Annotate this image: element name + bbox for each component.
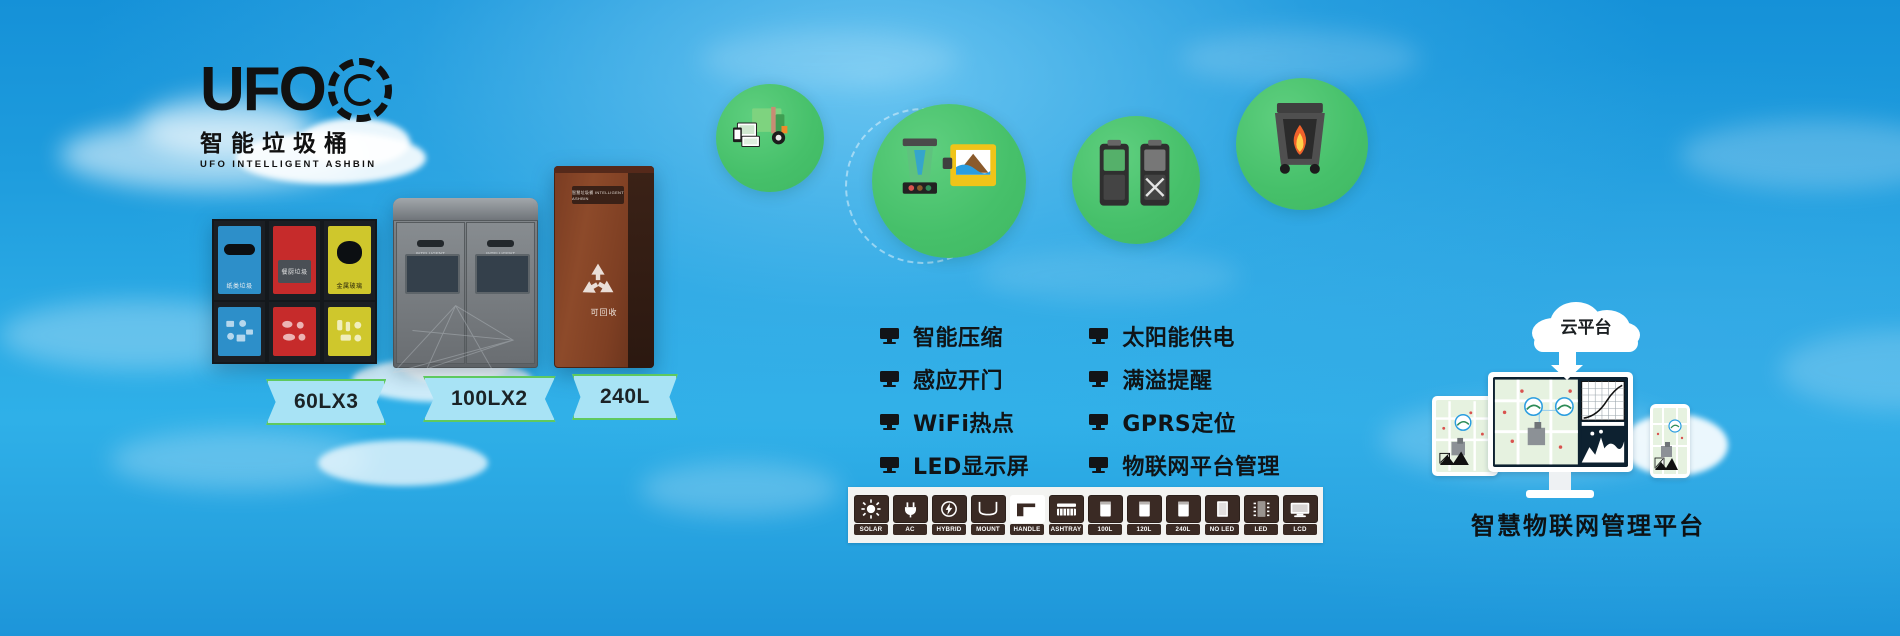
- dashboard-graphic: [1493, 377, 1628, 467]
- handle-icon: [1010, 495, 1045, 523]
- capacity-ribbon-100lx2: 100LX2: [423, 376, 556, 422]
- bin-hood: [393, 198, 538, 221]
- map-chart-graphic: [1436, 400, 1494, 472]
- spec-label: MOUNT: [971, 524, 1005, 535]
- cloud-decor: [110, 430, 370, 490]
- feature-label: WiFi热点: [913, 406, 1014, 438]
- mount-icon: [971, 495, 1006, 523]
- feature-label: GPRS定位: [1122, 406, 1236, 438]
- iot-platform-illustration: 云平台: [1432, 296, 1742, 536]
- spec-item-solar[interactable]: SOLAR: [854, 495, 888, 535]
- spec-label: LED: [1244, 524, 1278, 535]
- waste-slot-icon: [224, 244, 255, 255]
- feature-label: 智能压缩: [913, 320, 1003, 352]
- feature-item: 满溢提醒: [1089, 363, 1280, 395]
- vent-icon: [417, 240, 444, 247]
- ring-emblem-icon: [328, 58, 392, 122]
- compartment-panel-red: 餐厨垃圾: [273, 226, 316, 294]
- feature-circle-fleet-management[interactable]: [716, 84, 824, 192]
- capacity-ribbon-240l: 240L: [572, 374, 678, 420]
- led-panel-icon: [1244, 495, 1279, 523]
- logo-english-name: UFO INTELLIGENT ASHBIN: [200, 159, 410, 170]
- ashtray-icon: [1049, 495, 1084, 523]
- compartment-bottom-red: [269, 300, 320, 362]
- feature-label: 太阳能供电: [1122, 320, 1235, 352]
- capacity-label: 240L: [600, 385, 650, 409]
- bin-compartment-label: 金属玻璃: [328, 281, 371, 290]
- bin-compartment-paper: 纸类垃圾: [212, 219, 267, 364]
- bin-icon: [1166, 495, 1201, 523]
- compartment-top-red: 餐厨垃圾: [269, 221, 320, 300]
- bin-compartment-label: 纸类垃圾: [218, 281, 261, 290]
- plug-icon: [893, 495, 928, 523]
- phone-map-view: [1653, 408, 1687, 474]
- recycling-artwork-icon: [222, 314, 256, 348]
- food-waste-artwork-icon: [277, 314, 311, 348]
- compartment-top-blue: 纸类垃圾: [214, 221, 265, 300]
- spec-label: HYBRID: [932, 524, 966, 535]
- map-chart-graphic: [1653, 408, 1687, 474]
- compaction-icon: [897, 129, 1002, 205]
- spec-item-240l[interactable]: 240L: [1166, 495, 1200, 535]
- cloud-platform-label: 云平台: [1528, 313, 1644, 338]
- product-bin-240l[interactable]: 智慧垃圾桶 INTELLIGENT ASHBIN 可回收: [554, 166, 654, 368]
- spec-label: 120L: [1127, 524, 1161, 535]
- spec-label: AC: [893, 524, 927, 535]
- bin-compartment-kitchen: 餐厨垃圾: [267, 219, 322, 364]
- monitor-base: [1526, 490, 1594, 498]
- monitor-dashboard: [1493, 377, 1628, 467]
- bin-recycle-label: 可回收: [554, 307, 654, 318]
- fleet-management-icon: [733, 101, 806, 160]
- feature-circle-dual-bin[interactable]: [1072, 116, 1200, 244]
- logo-wordmark-row: UFO: [200, 58, 410, 122]
- monitor-icon: [880, 371, 899, 387]
- feature-label: LED显示屏: [913, 449, 1029, 481]
- feature-label: 满溢提醒: [1122, 363, 1212, 395]
- cloud-decor: [318, 440, 488, 486]
- sun-icon: [854, 495, 889, 523]
- monitor-stand: [1549, 472, 1571, 492]
- feature-column-right: 太阳能供电 满溢提醒 GPRS定位 物联网平台管理: [1089, 320, 1280, 481]
- product-bin-100lx2[interactable]: INTELLIGENT INTELLIGENT: [393, 198, 538, 368]
- spec-label: HANDLE: [1010, 524, 1044, 535]
- banner-canvas: UFO 智能垃圾桶 UFO INTELLIGENT ASHBIN 纸类垃圾: [0, 0, 1900, 636]
- spec-item-lcd[interactable]: LCD: [1283, 495, 1317, 535]
- spec-item-100l[interactable]: 100L: [1088, 495, 1122, 535]
- feature-item: LED显示屏: [880, 449, 1029, 481]
- lcd-screen-icon: [1283, 495, 1318, 523]
- product-bin-60lx3[interactable]: 纸类垃圾 餐厨垃圾: [212, 219, 377, 364]
- cloud-decor: [700, 30, 960, 88]
- feature-circle-fire-alarm[interactable]: [1236, 78, 1368, 210]
- compartment-artwork-blue: [218, 307, 261, 356]
- monitor-icon: [1089, 328, 1108, 344]
- spec-item-led[interactable]: LED: [1244, 495, 1278, 535]
- network-web-artwork-icon: [384, 273, 546, 378]
- compartment-bottom-yellow: [324, 300, 375, 362]
- capacity-label: 60LX3: [294, 390, 358, 414]
- dual-bin-icon: [1092, 136, 1179, 213]
- cloud-platform-badge: 云平台: [1528, 296, 1644, 350]
- monitor-icon: [880, 328, 899, 344]
- bin-side-panel: [628, 166, 654, 368]
- feature-list: 智能压缩 感应开门 WiFi热点 LED显示屏 太阳能供电 满溢提醒: [880, 320, 1280, 481]
- phone-device[interactable]: [1650, 404, 1690, 478]
- feature-label: 感应开门: [913, 363, 1003, 395]
- compartment-artwork-yellow: [328, 307, 371, 356]
- bin-label-plate: 餐厨垃圾: [278, 260, 311, 283]
- fire-alarm-icon: [1257, 99, 1347, 179]
- blank-panel-icon: [1205, 495, 1240, 523]
- cloud-decor: [980, 250, 1240, 302]
- compartment-panel-blue: 纸类垃圾: [218, 226, 261, 294]
- vent-icon: [487, 240, 514, 247]
- spec-item-ac[interactable]: AC: [893, 495, 927, 535]
- spec-icon-strip: SOLAR AC HYBRID MOUNT: [848, 487, 1323, 543]
- monitor-icon: [880, 457, 899, 473]
- spec-item-hybrid[interactable]: HYBRID: [932, 495, 966, 535]
- feature-item: WiFi热点: [880, 406, 1029, 438]
- spec-label: 100L: [1088, 524, 1122, 535]
- monitor-icon: [1089, 457, 1108, 473]
- bin-top-tag-label: 智慧垃圾桶 INTELLIGENT ASHBIN: [572, 190, 624, 201]
- bin-icon: [1088, 495, 1123, 523]
- compartment-top-yellow: 金属玻璃: [324, 221, 375, 300]
- spec-item-no-led[interactable]: NO LED: [1205, 495, 1239, 535]
- glass-metal-artwork-icon: [332, 314, 366, 348]
- compartment-artwork-red: [273, 307, 316, 356]
- monitor-icon: [880, 414, 899, 430]
- bin-cap: [554, 166, 654, 173]
- compartment-bottom-blue: [214, 300, 265, 362]
- spec-item-mount[interactable]: MOUNT: [971, 495, 1005, 535]
- feature-circle-compaction[interactable]: [872, 104, 1026, 258]
- spec-item-handle[interactable]: HANDLE: [1010, 495, 1044, 535]
- waste-slot-round-icon: [337, 241, 361, 264]
- spec-label: ASHTRAY: [1049, 524, 1083, 535]
- feature-label: 物联网平台管理: [1122, 449, 1280, 481]
- spec-label: LCD: [1283, 524, 1317, 535]
- spec-label: NO LED: [1205, 524, 1239, 535]
- feature-item: 太阳能供电: [1089, 320, 1280, 352]
- monitor-icon: [1089, 414, 1108, 430]
- desktop-monitor[interactable]: [1488, 372, 1633, 472]
- spec-label: SOLAR: [854, 524, 888, 535]
- compartment-panel-yellow: 金属玻璃: [328, 226, 371, 294]
- feature-item: GPRS定位: [1089, 406, 1280, 438]
- bin-icon: [1127, 495, 1162, 523]
- feature-item: 感应开门: [880, 363, 1029, 395]
- platform-caption: 智慧物联网管理平台: [1418, 506, 1758, 541]
- cloud-decor: [640, 462, 840, 516]
- recycle-symbol-icon: [576, 259, 620, 303]
- hybrid-bolt-icon: [932, 495, 967, 523]
- monitor-icon: [1089, 371, 1108, 387]
- feature-item: 物联网平台管理: [1089, 449, 1280, 481]
- cloud-decor: [1680, 120, 1900, 190]
- logo-wordmark: UFO: [200, 63, 325, 116]
- tablet-map-view: [1436, 400, 1494, 472]
- logo-chinese-name: 智能垃圾桶: [200, 124, 410, 158]
- feature-column-left: 智能压缩 感应开门 WiFi热点 LED显示屏: [880, 320, 1029, 481]
- bin-compartment-glass-metal: 金属玻璃: [322, 219, 377, 364]
- cloud-decor: [1780, 330, 1900, 410]
- spec-label: 240L: [1166, 524, 1200, 535]
- brand-logo: UFO 智能垃圾桶 UFO INTELLIGENT ASHBIN: [200, 58, 410, 170]
- feature-item: 智能压缩: [880, 320, 1029, 352]
- bin-top-tag: 智慧垃圾桶 INTELLIGENT ASHBIN: [572, 186, 624, 204]
- spec-item-120l[interactable]: 120L: [1127, 495, 1161, 535]
- capacity-ribbon-60lx3: 60LX3: [266, 379, 386, 425]
- capacity-label: 100LX2: [451, 387, 528, 411]
- bin-compartment-label: 餐厨垃圾: [281, 267, 307, 276]
- spec-item-ashtray[interactable]: ASHTRAY: [1049, 495, 1083, 535]
